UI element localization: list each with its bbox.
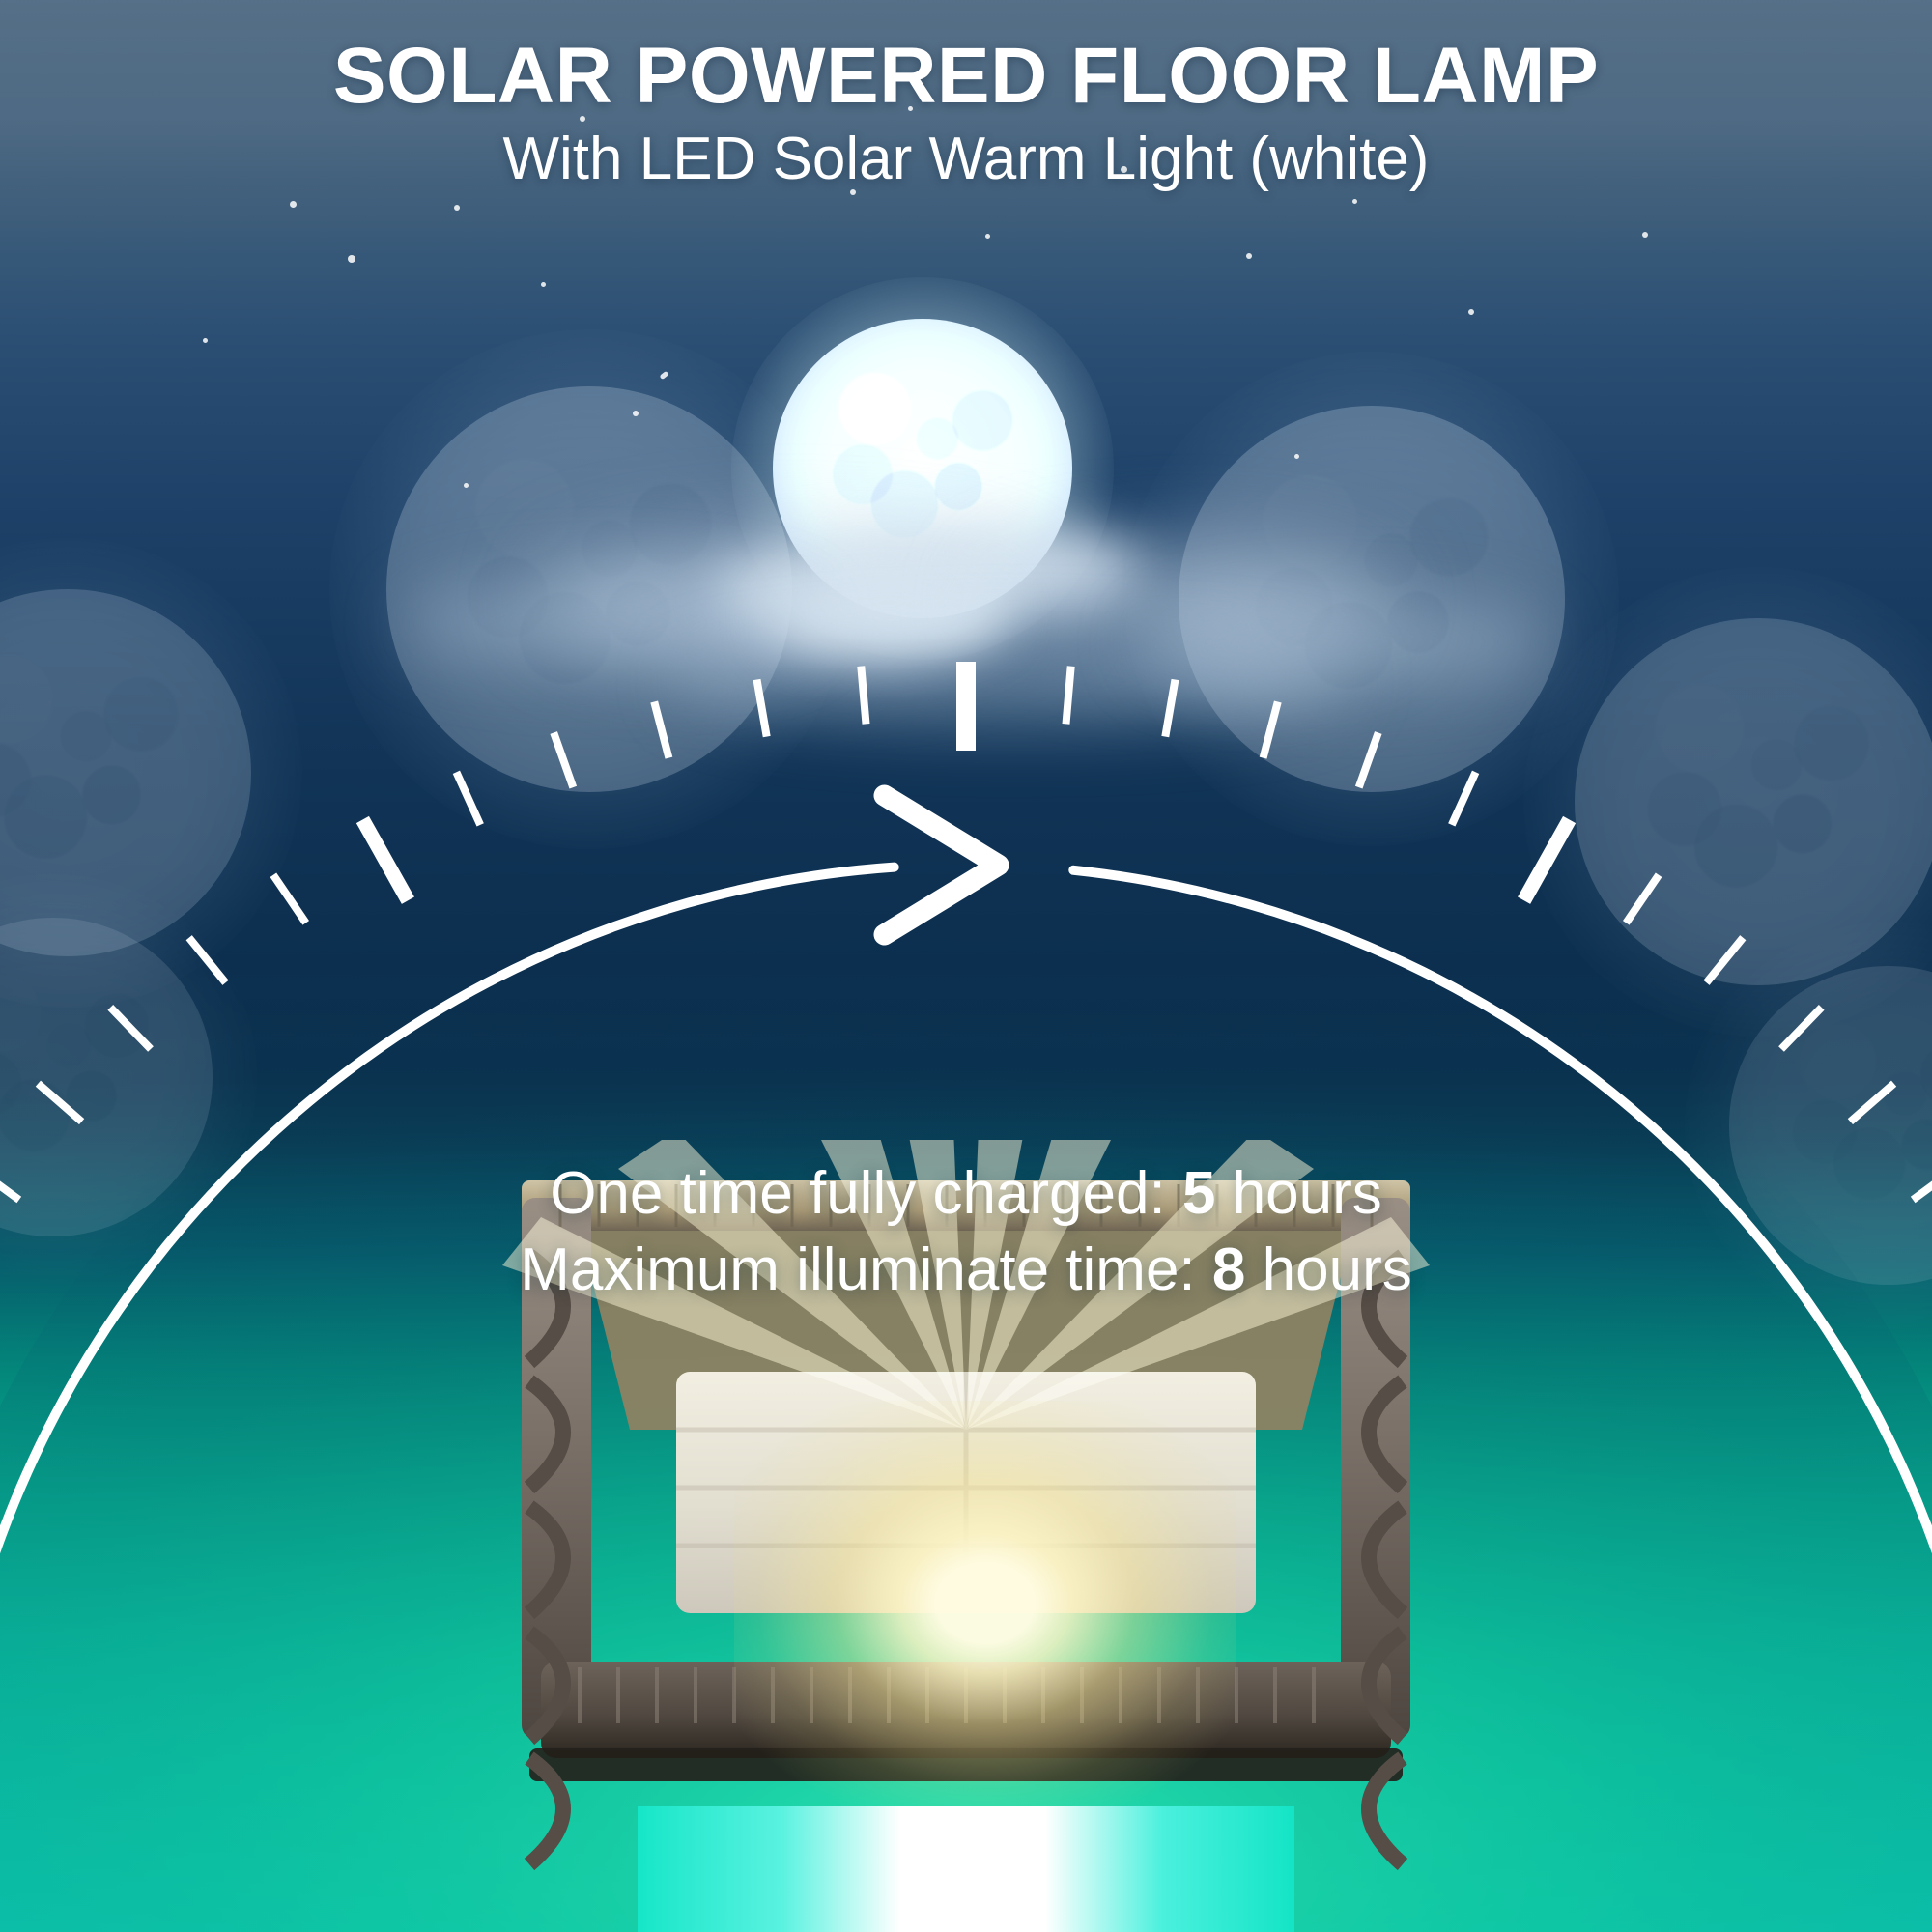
page-subtitle: With LED Solar Warm Light (white) [0,128,1932,190]
dial-tick [1066,667,1071,724]
dial-tick [273,875,306,923]
dial-tick [1524,820,1570,901]
dial-tick [1626,875,1659,923]
dial-tick [110,1008,151,1049]
dial-tick [861,667,866,724]
spec-charge-time: One time fully charged: 5 hours [0,1155,1932,1232]
dial-tick [1850,1084,1893,1122]
dial-tick [1781,1008,1822,1049]
spec-charge-label: One time fully charged: [550,1160,1166,1227]
spec-illuminate-value: 8 [1212,1236,1245,1303]
dial-tick [1452,772,1476,825]
dial-tick [554,733,573,788]
spec-illuminate-label: Maximum illuminate time: [520,1236,1195,1303]
spec-list: One time fully charged: 5 hours Maximum … [0,1155,1932,1309]
dial-tick [1264,702,1278,758]
lamp-base-glow [638,1806,1294,1932]
dial-tick [1707,938,1744,983]
spec-charge-value: 5 [1182,1160,1215,1227]
clockwise-arrow-icon [885,796,999,935]
dial-tick [38,1084,81,1122]
spec-illuminate-time: Maximum illuminate time: 8 hours [0,1232,1932,1308]
dial-tick [189,938,226,983]
spec-charge-unit: hours [1233,1160,1382,1227]
product-infographic: SOLAR POWERED FLOOR LAMP With LED Solar … [0,0,1932,1932]
dial-tick [1165,680,1175,737]
page-title: SOLAR POWERED FLOOR LAMP [0,37,1932,116]
dial-tick [654,702,668,758]
dial-tick [456,772,480,825]
dial-tick [757,680,767,737]
dial-tick [1359,733,1378,788]
dial-tick [362,820,408,901]
spec-illuminate-unit: hours [1263,1236,1412,1303]
